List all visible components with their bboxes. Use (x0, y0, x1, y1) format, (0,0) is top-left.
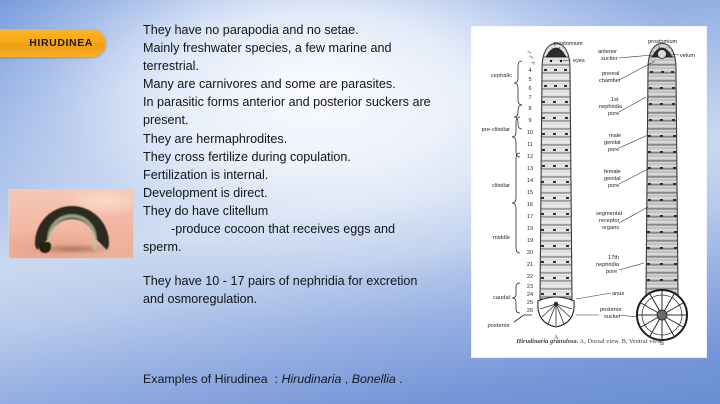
svg-text:12: 12 (527, 154, 533, 160)
callout-preoral-2: chamber (599, 78, 621, 84)
svg-text:13: 13 (527, 166, 533, 172)
description-line: sperm. (143, 238, 473, 256)
paragraph-spacer (143, 256, 473, 272)
leech-anatomy-figure: 456 789 101112 131415 161719 192021 2223… (472, 27, 706, 357)
svg-text:11: 11 (527, 142, 533, 148)
segment-number-column: 456 789 101112 131415 161719 192021 2223… (527, 68, 533, 314)
posterior-sucker-dorsal (538, 297, 574, 327)
svg-text:21: 21 (527, 262, 533, 268)
callout-segmental-1: segmental (596, 211, 622, 217)
svg-text:17: 17 (527, 214, 533, 220)
slide-canvas: HIRUDINEA They have no parapodia and no … (0, 0, 720, 404)
description-line: They have 10 - 17 pairs of nephridia for… (143, 272, 473, 290)
callout-posterior-sucker-2: sucker (604, 314, 621, 320)
svg-text:26: 26 (527, 308, 533, 314)
leech-anatomy-diagram: 456 789 101112 131415 161719 192021 2223… (472, 27, 706, 357)
region-label-middle: middle (493, 235, 510, 241)
svg-text:23: 23 (527, 284, 533, 290)
callout-female-pore-1: female (604, 169, 621, 175)
examples-prefix: Examples of Hirudinea : (143, 372, 281, 386)
figure-caption-species: Hirudinaria granulosa. (516, 338, 578, 345)
svg-text:20: 20 (527, 250, 533, 256)
callout-female-pore-2: genital (604, 176, 620, 182)
region-label-cephalic: cephalic (491, 73, 512, 79)
description-line: In parasitic forms anterior and posterio… (143, 93, 473, 111)
callout-1st-nephridia-3: pore (608, 111, 619, 117)
svg-text:14: 14 (527, 178, 533, 184)
svg-text:19: 19 (527, 226, 533, 232)
description-line: -produce cocoon that receives eggs and (143, 220, 473, 238)
description-line: Many are carnivores and some are parasit… (143, 75, 473, 93)
example-species-one: Hirudinaria (281, 372, 341, 386)
callout-17th-nephridia-1: 17th (608, 255, 619, 261)
svg-text:1: 1 (526, 49, 532, 54)
description-line: They do have clitellum (143, 202, 473, 220)
description-line: They have no parapodia and no setae. (143, 21, 473, 39)
callout-male-pore-3: pore (608, 147, 619, 153)
examples-separator: , (341, 372, 351, 386)
callout-segmental-2: receptor (599, 218, 620, 224)
topic-badge: HIRUDINEA (0, 29, 106, 57)
preoral-chamber (658, 50, 667, 59)
figure-caption: Hirudinaria granulosa. A, Dorsal view. B… (472, 338, 706, 345)
svg-text:19: 19 (527, 238, 533, 244)
callout-anterior-sucker-1: anterior (598, 49, 617, 55)
callout-eyes: eyes (573, 58, 585, 64)
callout-prostomium-dorsal: prostomium (553, 41, 583, 47)
callout-1st-nephridia-2: nephridia (599, 104, 623, 110)
svg-text:16: 16 (527, 202, 533, 208)
figure-caption-rest: A, Dorsal view. B, Ventral view (578, 338, 661, 345)
dorsal-view-body (536, 43, 576, 327)
svg-text:8: 8 (528, 106, 531, 112)
cephalic-subsegments: 3 2 1 (526, 49, 536, 65)
region-labels: cephalic pre-clitellar clitellar middle … (482, 73, 512, 329)
description-line: They are hermaphrodites. (143, 130, 473, 148)
svg-text:22: 22 (527, 274, 533, 280)
examples-suffix: . (396, 372, 403, 386)
description-line: and osmoregulation. (143, 290, 473, 308)
svg-text:3: 3 (530, 60, 536, 65)
region-label-pre-clitellar: pre-clitellar (482, 127, 510, 133)
topic-badge-label: HIRUDINEA (29, 37, 93, 49)
callout-male-pore-2: genital (604, 140, 620, 146)
svg-text:15: 15 (527, 190, 533, 196)
eye-marker (560, 60, 562, 62)
region-label-caudal: caudal (493, 295, 510, 301)
description-line: They cross fertilize during copulation. (143, 148, 473, 166)
callout-anus: anus (612, 291, 624, 297)
examples-line: Examples of Hirudinea : Hirudinaria , Bo… (143, 372, 403, 386)
description-line: Development is direct. (143, 184, 473, 202)
svg-text:10: 10 (527, 130, 533, 136)
callout-velum: velum (680, 53, 695, 59)
callout-posterior-sucker-1: posterior (600, 307, 622, 313)
svg-text:5: 5 (528, 77, 531, 83)
region-label-clitellar: clitellar (492, 183, 510, 189)
callout-preoral-1: preoral (602, 71, 619, 77)
svg-text:25: 25 (527, 300, 533, 306)
leech-photo (8, 189, 134, 259)
callout-anterior-sucker-2: sucker (601, 56, 618, 62)
description-text-block: They have no parapodia and no setae. Mai… (143, 21, 473, 308)
callout-1st-nephridia-1: 1st (611, 97, 619, 103)
description-line: Fertilization is internal. (143, 166, 473, 184)
description-line: terrestrial. (143, 57, 473, 75)
region-label-posterior: posterior (487, 323, 510, 329)
svg-text:7: 7 (528, 95, 531, 101)
svg-text:6: 6 (528, 86, 531, 92)
posterior-sucker-ventral (637, 290, 687, 340)
svg-text:9: 9 (528, 118, 531, 124)
description-line: Mainly freshwater species, a few marine … (143, 39, 473, 57)
callout-17th-nephridia-2: nephridia (596, 262, 620, 268)
callout-male-pore-1: male (609, 133, 621, 139)
eye-marker (550, 60, 552, 62)
svg-text:4: 4 (528, 68, 531, 74)
description-line: present. (143, 111, 473, 129)
callout-prostomium-ventral: prostomium (648, 39, 678, 45)
callout-segmental-3: organs (602, 225, 619, 231)
example-species-two: Bonellia (352, 372, 396, 386)
callout-female-pore-3: pore (608, 183, 619, 189)
svg-text:24: 24 (527, 292, 533, 298)
callout-17th-nephridia-3: pore (606, 269, 617, 275)
svg-text:2: 2 (528, 54, 534, 59)
ventral-view-body (637, 43, 687, 340)
